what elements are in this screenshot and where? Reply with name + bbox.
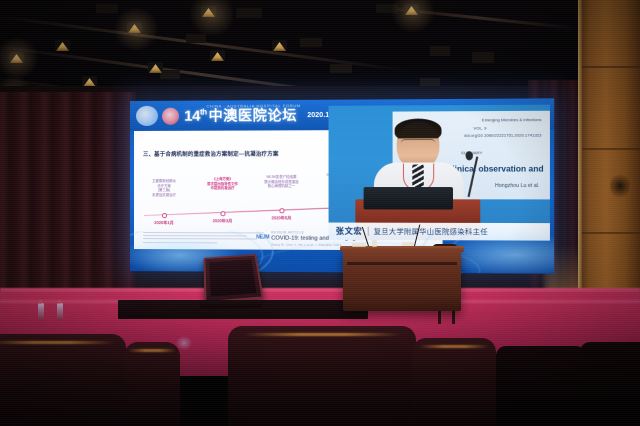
timeline-caption: 《上海方案》 首次提出指导性文件 中提到抗凝治疗 xyxy=(198,177,247,191)
audience-seat xyxy=(496,346,586,426)
audience-seat xyxy=(0,334,126,426)
aisle-light xyxy=(176,336,192,350)
glasses-icon xyxy=(401,139,435,147)
video-bg-heading: Clinical observation and xyxy=(446,164,543,173)
audience-seat xyxy=(124,342,180,426)
water-bottle xyxy=(38,303,44,320)
video-bg-line: Emerging Microbes & Infections xyxy=(482,117,542,122)
laptop-icon xyxy=(364,187,453,210)
water-bottle xyxy=(57,303,63,320)
timeline-node xyxy=(279,208,284,213)
stage-curtain-left xyxy=(0,92,136,314)
confidence-monitor xyxy=(200,252,262,314)
microphone-head-icon xyxy=(466,151,473,160)
audience-seat xyxy=(580,342,640,426)
video-bg-subheading: Hongzhou Lu et al. xyxy=(495,183,539,189)
timeline-caption: 卫健委新冠肺炎 诊疗方案 (第三版) 未提及抗凝治疗 xyxy=(140,179,188,197)
monitor-screen xyxy=(203,254,263,303)
monitor-base xyxy=(200,300,262,308)
forum-edition-number: 14th xyxy=(184,108,206,123)
monitor-display xyxy=(209,259,256,297)
timeline-node xyxy=(162,213,167,218)
slide-section-heading: 三、基于合病机制的重症救治方案制定—抗凝治疗方案 xyxy=(143,150,279,158)
conference-hall-photo: 14th 中澳医院论坛 2020.11.27 中国 · 上海 CHINA - A… xyxy=(0,0,640,426)
audience-seat xyxy=(412,338,496,426)
forum-emblem-icon xyxy=(136,106,158,126)
timeline-node xyxy=(220,211,225,216)
table-cup xyxy=(372,240,377,247)
audience-seat xyxy=(228,326,416,426)
video-bg-line: VOL. 9 xyxy=(473,125,486,130)
panel-table xyxy=(343,249,461,311)
timeline-caption: NEJM发表尸检结果 提示微血栓形成是重症 核心病理机制之一 xyxy=(257,175,306,189)
video-bg-line: doi.org/10.1080/22221751.2020.1741323 xyxy=(464,132,541,137)
table-paper xyxy=(402,242,414,246)
table-paper xyxy=(352,243,366,247)
organization-seal-icon xyxy=(162,107,179,124)
speaker-video-feed: Emerging Microbes & Infections VOL. 9 do… xyxy=(329,105,550,241)
forum-title-en: CHINA - AUSTRALIA HOSPITAL FORUM xyxy=(206,103,301,109)
timeline-date: 2020年5月 xyxy=(264,215,299,221)
timeline-date: 2020年1月 xyxy=(147,220,181,226)
timeline-date: 2020年3月 xyxy=(205,218,239,224)
wall-fixture-icon xyxy=(610,172,630,200)
audience-seating xyxy=(0,322,640,426)
panel-table-skirt xyxy=(347,262,457,265)
